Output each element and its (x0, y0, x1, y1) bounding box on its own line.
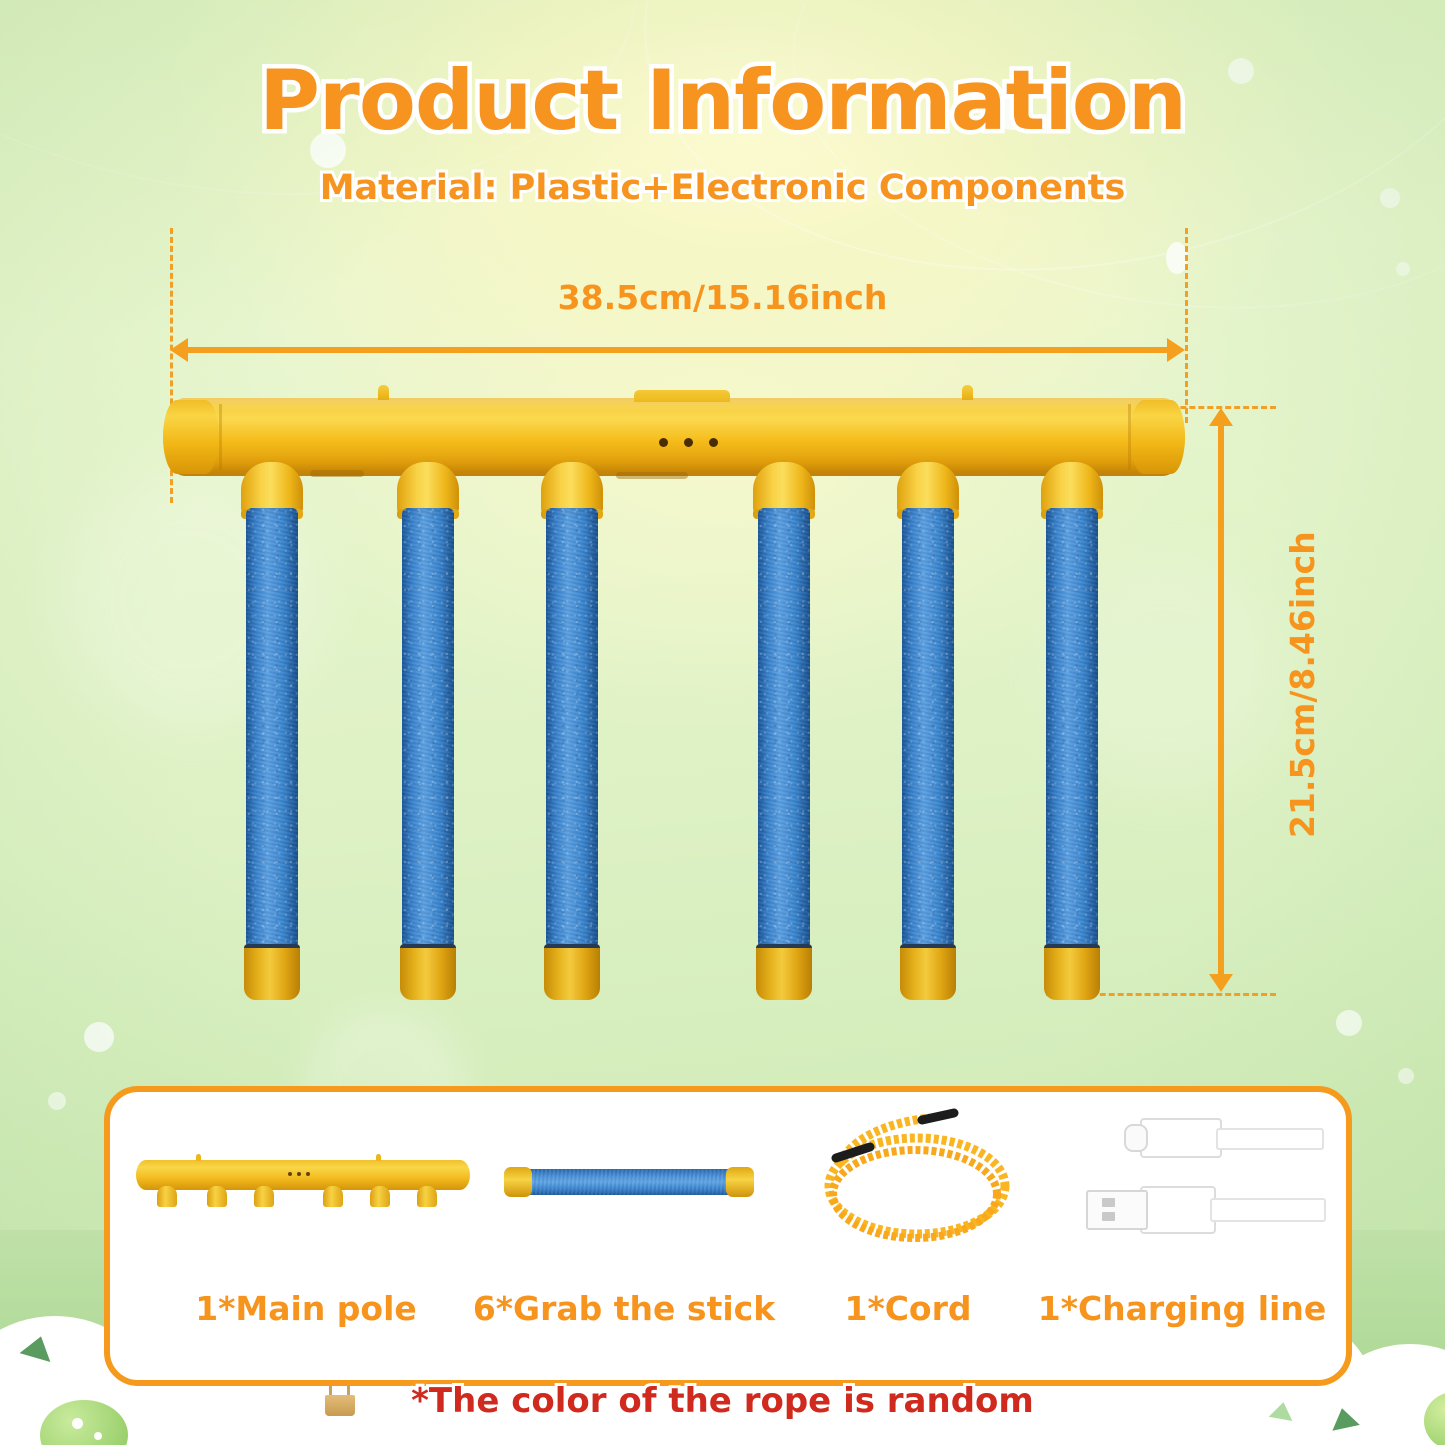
indicator-dot-2 (684, 438, 693, 447)
indicator-dot-1 (659, 438, 668, 447)
material-subtitle: Material: Plastic+Electronic Components (0, 168, 1445, 208)
usb-a-connector (1140, 1186, 1216, 1234)
grab-stick-4 (758, 508, 810, 948)
guide-line-right (1185, 228, 1188, 423)
pole-left-cap (163, 400, 219, 474)
stick-endcap-2 (400, 944, 456, 1000)
pole-nub-left (378, 385, 389, 400)
accessory-label-main-pole: 1*Main pole (146, 1289, 466, 1328)
accessory-label-cord: 1*Cord (790, 1289, 1026, 1328)
accessory-label-charging-line: 1*Charging line (1032, 1289, 1332, 1328)
height-dimension-label: 21.5cm/8.46inch (1283, 531, 1322, 838)
stick-endcap-4 (756, 944, 812, 1000)
pole-nub-right (962, 385, 973, 400)
pole-right-cap (1130, 400, 1185, 474)
grab-stick-3 (546, 508, 598, 948)
pole-port-left (310, 470, 364, 477)
product-information-infographic: Product Information Material: Plastic+El… (0, 0, 1445, 1445)
grab-stick-5 (902, 508, 954, 948)
accessory-label-grab-stick: 6*Grab the stick (452, 1289, 796, 1328)
main-pole-bar (163, 398, 1185, 476)
indicator-dot-3 (709, 438, 718, 447)
pole-seam-left (219, 404, 222, 470)
pole-port-center (616, 472, 688, 479)
width-dimension-label: 38.5cm/15.16inch (0, 278, 1445, 317)
grab-stick-1 (246, 508, 298, 948)
grab-stick-2 (402, 508, 454, 948)
width-dimension-arrow (186, 347, 1169, 353)
page-title: Product Information (0, 52, 1445, 149)
stick-endcap-5 (900, 944, 956, 1000)
footer-note: *The color of the rope is random (0, 1381, 1445, 1421)
usb-c-connector (1140, 1118, 1222, 1158)
height-dimension-arrow (1218, 424, 1224, 976)
stick-endcap-1 (244, 944, 300, 1000)
stick-endcap-6 (1044, 944, 1100, 1000)
stick-endcap-3 (544, 944, 600, 1000)
pole-seam-right (1128, 404, 1131, 470)
grab-stick-6 (1046, 508, 1098, 948)
pole-top-plate (634, 390, 730, 402)
